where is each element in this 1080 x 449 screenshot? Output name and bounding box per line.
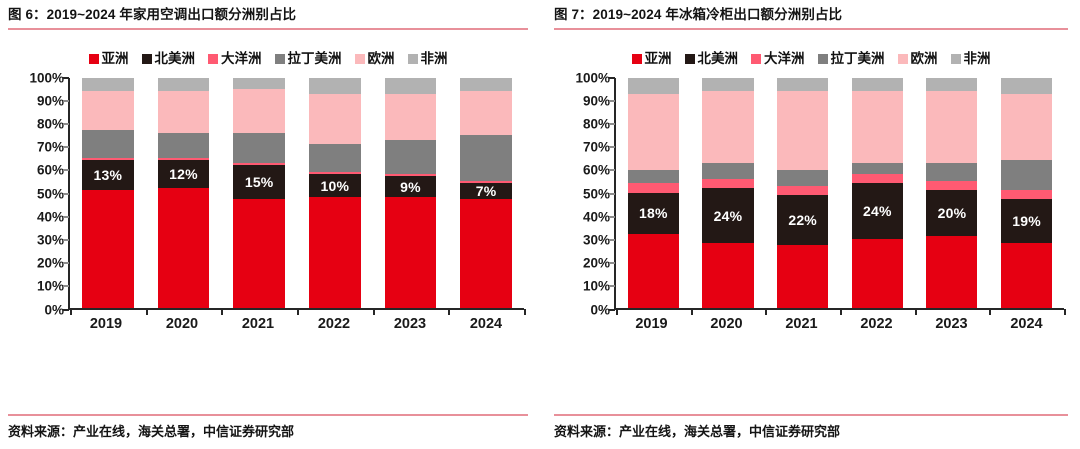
y-axis-tick-label: 40% bbox=[37, 209, 64, 224]
bar-segment-value-label: 7% bbox=[460, 183, 512, 199]
x-axis-tick-label: 2021 bbox=[776, 316, 827, 332]
bar-segment-北美洲[interactable]: 20% bbox=[926, 190, 977, 236]
bar-segment-欧洲[interactable] bbox=[628, 94, 679, 170]
x-axis-tick-mark bbox=[524, 309, 526, 315]
x-axis-tick-label: 2023 bbox=[384, 316, 436, 332]
bar-segment-北美洲[interactable]: 24% bbox=[852, 183, 903, 238]
x-axis-tick-label: 2022 bbox=[308, 316, 360, 332]
bar-segment-亚洲[interactable] bbox=[777, 245, 828, 307]
y-axis-tick-label: 50% bbox=[583, 186, 610, 201]
bar-segment-非洲[interactable] bbox=[777, 78, 828, 92]
legend-item-label: 拉丁美洲 bbox=[288, 52, 342, 66]
bar-segment-北美洲[interactable]: 9% bbox=[385, 176, 437, 197]
bar-segment-欧洲[interactable] bbox=[309, 94, 361, 145]
bar-segment-value-label: 10% bbox=[309, 178, 361, 194]
legend-item-label: 欧洲 bbox=[911, 52, 938, 66]
x-axis-tick-mark bbox=[840, 309, 842, 315]
footer-divider bbox=[8, 414, 528, 416]
bar-segment-北美洲[interactable]: 15% bbox=[233, 165, 285, 200]
figure-7-chart: 0%10%20%30%40%50%60%70%80%90%100% 18%24%… bbox=[554, 78, 1068, 340]
x-axis-tick-mark bbox=[448, 309, 450, 315]
bar-segment-拉丁美洲[interactable] bbox=[158, 133, 210, 158]
figure-7-legend: 亚洲北美洲大洋洲拉丁美洲欧洲非洲 bbox=[554, 52, 1068, 66]
source-text: 资料来源：产业在线，海关总署，中信证券研究部 bbox=[554, 423, 1068, 441]
bar-column[interactable]: 24% bbox=[702, 78, 753, 308]
legend-item-大洋洲[interactable]: 大洋洲 bbox=[751, 52, 805, 66]
x-axis-tick-label: 2021 bbox=[232, 316, 284, 332]
y-axis-tick-label: 10% bbox=[37, 279, 64, 294]
bar-segment-拉丁美洲[interactable] bbox=[852, 163, 903, 175]
page-title: 图 6：2019~2024 年家用空调出口额分洲别占比 bbox=[8, 6, 528, 24]
y-axis-tick-label: 60% bbox=[37, 163, 64, 178]
bar-segment-北美洲[interactable]: 24% bbox=[702, 188, 753, 243]
y-axis-tick-label: 30% bbox=[37, 232, 64, 247]
bar-segment-非洲[interactable] bbox=[309, 78, 361, 94]
bar-segment-value-label: 13% bbox=[82, 167, 134, 183]
figure-6-legend: 亚洲北美洲大洋洲拉丁美洲欧洲非洲 bbox=[8, 52, 528, 66]
bar-segment-亚洲[interactable] bbox=[702, 243, 753, 307]
legend-item-拉丁美洲[interactable]: 拉丁美洲 bbox=[818, 52, 885, 66]
bar-segment-拉丁美洲[interactable] bbox=[777, 170, 828, 186]
legend-swatch-icon bbox=[408, 54, 418, 64]
bar-segment-非洲[interactable] bbox=[460, 78, 512, 92]
bar-segment-欧洲[interactable] bbox=[777, 91, 828, 169]
y-axis-tick-label: 60% bbox=[583, 163, 610, 178]
figure-7-panel: 图 7：2019~2024 年冰箱冷柜出口额分洲别占比 亚洲北美洲大洋洲拉丁美洲… bbox=[540, 0, 1080, 449]
y-axis-tick-mark bbox=[63, 169, 69, 171]
bar-segment-大洋洲[interactable] bbox=[82, 158, 134, 160]
y-axis-tick-mark bbox=[63, 285, 69, 287]
y-axis-tick-mark bbox=[63, 146, 69, 148]
bar-segment-拉丁美洲[interactable] bbox=[385, 140, 437, 175]
bar-segment-亚洲[interactable] bbox=[460, 199, 512, 307]
legend-item-亚洲[interactable]: 亚洲 bbox=[632, 52, 672, 66]
figure-6-title-block: 图 6：2019~2024 年家用空调出口额分洲别占比 bbox=[8, 0, 528, 30]
legend-item-label: 亚洲 bbox=[645, 52, 672, 66]
legend-item-亚洲[interactable]: 亚洲 bbox=[89, 52, 129, 66]
bar-segment-亚洲[interactable] bbox=[309, 197, 361, 307]
y-axis-tick-mark bbox=[609, 239, 615, 241]
bar-segment-亚洲[interactable] bbox=[1001, 243, 1052, 307]
figure-6-chart: 0%10%20%30%40%50%60%70%80%90%100% 13%12%… bbox=[8, 78, 528, 340]
bar-segment-亚洲[interactable] bbox=[233, 199, 285, 307]
y-axis-tick-mark bbox=[63, 123, 69, 125]
bar-segment-非洲[interactable] bbox=[1001, 78, 1052, 94]
bar-column[interactable]: 7% bbox=[460, 78, 512, 308]
bar-segment-大洋洲[interactable] bbox=[777, 186, 828, 195]
bar-segment-大洋洲[interactable] bbox=[385, 174, 437, 176]
bar-column[interactable]: 13% bbox=[82, 78, 134, 308]
source-text: 资料来源：产业在线，海关总署，中信证券研究部 bbox=[8, 423, 528, 441]
legend-item-label: 北美洲 bbox=[698, 52, 739, 66]
bar-segment-value-label: 22% bbox=[777, 212, 828, 228]
bar-segment-value-label: 19% bbox=[1001, 213, 1052, 229]
y-axis-tick-label: 50% bbox=[37, 186, 64, 201]
bar-segment-欧洲[interactable] bbox=[1001, 94, 1052, 161]
y-axis-tick-label: 80% bbox=[37, 116, 64, 131]
x-axis-tick-mark bbox=[915, 309, 917, 315]
bar-segment-拉丁美洲[interactable] bbox=[82, 130, 134, 158]
legend-item-北美洲[interactable]: 北美洲 bbox=[685, 52, 739, 66]
y-axis-tick-mark bbox=[63, 262, 69, 264]
bar-segment-非洲[interactable] bbox=[233, 78, 285, 90]
legend-item-欧洲[interactable]: 欧洲 bbox=[898, 52, 938, 66]
bar-segment-拉丁美洲[interactable] bbox=[309, 144, 361, 172]
bar-segment-value-label: 24% bbox=[852, 203, 903, 219]
y-axis-tick-mark bbox=[63, 77, 69, 79]
legend-item-北美洲[interactable]: 北美洲 bbox=[142, 52, 196, 66]
legend-item-欧洲[interactable]: 欧洲 bbox=[355, 52, 395, 66]
bar-segment-亚洲[interactable] bbox=[158, 188, 210, 308]
bar-segment-北美洲[interactable]: 10% bbox=[309, 174, 361, 197]
y-axis-tick-label: 20% bbox=[37, 256, 64, 271]
bar-segment-非洲[interactable] bbox=[702, 78, 753, 92]
legend-swatch-icon bbox=[951, 54, 961, 64]
y-axis-tick-label: 0% bbox=[44, 302, 64, 317]
bar-segment-拉丁美洲[interactable] bbox=[460, 135, 512, 181]
legend-swatch-icon bbox=[818, 54, 828, 64]
y-axis-tick-mark bbox=[609, 193, 615, 195]
bar-segment-亚洲[interactable] bbox=[82, 190, 134, 307]
bar-segment-大洋洲[interactable] bbox=[852, 174, 903, 183]
bar-segment-拉丁美洲[interactable] bbox=[233, 133, 285, 163]
legend-item-label: 非洲 bbox=[421, 52, 448, 66]
bar-column[interactable]: 18% bbox=[628, 78, 679, 308]
x-axis-tick-mark bbox=[146, 309, 148, 315]
bar-segment-非洲[interactable] bbox=[158, 78, 210, 92]
x-axis-tick-label: 2019 bbox=[80, 316, 132, 332]
bar-segment-拉丁美洲[interactable] bbox=[702, 163, 753, 179]
legend-item-label: 欧洲 bbox=[368, 52, 395, 66]
footer-divider bbox=[554, 414, 1068, 416]
legend-item-label: 大洋洲 bbox=[764, 52, 805, 66]
bar-segment-欧洲[interactable] bbox=[385, 94, 437, 140]
bar-column[interactable]: 22% bbox=[777, 78, 828, 308]
x-axis-tick-mark bbox=[70, 309, 72, 315]
bar-segment-欧洲[interactable] bbox=[926, 91, 977, 162]
legend-swatch-icon bbox=[685, 54, 695, 64]
bar-column[interactable]: 19% bbox=[1001, 78, 1052, 308]
y-axis-tick-label: 100% bbox=[29, 70, 64, 85]
bar-segment-亚洲[interactable] bbox=[926, 236, 977, 307]
y-axis-tick-mark bbox=[63, 100, 69, 102]
y-axis-tick-mark bbox=[609, 146, 615, 148]
bar-segment-欧洲[interactable] bbox=[460, 91, 512, 135]
bar-segment-拉丁美洲[interactable] bbox=[926, 163, 977, 181]
legend-item-拉丁美洲[interactable]: 拉丁美洲 bbox=[275, 52, 342, 66]
bar-segment-北美洲[interactable]: 12% bbox=[158, 160, 210, 188]
bar-segment-拉丁美洲[interactable] bbox=[1001, 160, 1052, 190]
bar-segment-亚洲[interactable] bbox=[852, 239, 903, 308]
x-axis-tick-label: 2020 bbox=[701, 316, 752, 332]
x-axis-tick-mark bbox=[373, 309, 375, 315]
y-axis-tick-mark bbox=[609, 169, 615, 171]
bar-segment-大洋洲[interactable] bbox=[926, 181, 977, 190]
y-axis-tick-mark bbox=[63, 309, 69, 311]
legend-item-label: 非洲 bbox=[964, 52, 991, 66]
x-axis-tick-mark bbox=[765, 309, 767, 315]
x-axis-tick-label: 2019 bbox=[626, 316, 677, 332]
figure-7-title-block: 图 7：2019~2024 年冰箱冷柜出口额分洲别占比 bbox=[554, 0, 1068, 30]
y-axis-tick-label: 70% bbox=[583, 140, 610, 155]
bar-segment-欧洲[interactable] bbox=[852, 91, 903, 162]
bar-segment-非洲[interactable] bbox=[628, 78, 679, 94]
legend-swatch-icon bbox=[275, 54, 285, 64]
bar-segment-value-label: 20% bbox=[926, 205, 977, 221]
x-axis-tick-label: 2024 bbox=[460, 316, 512, 332]
figure-7-plot-area: 18%24%22%24%20%19% bbox=[614, 78, 1064, 310]
y-axis-tick-label: 70% bbox=[37, 140, 64, 155]
bar-segment-北美洲[interactable]: 7% bbox=[460, 183, 512, 199]
figures-page: 图 6：2019~2024 年家用空调出口额分洲别占比 亚洲北美洲大洋洲拉丁美洲… bbox=[0, 0, 1080, 449]
y-axis-tick-label: 10% bbox=[583, 279, 610, 294]
legend-swatch-icon bbox=[355, 54, 365, 64]
bar-segment-大洋洲[interactable] bbox=[158, 158, 210, 160]
bar-segment-value-label: 12% bbox=[158, 166, 210, 182]
bar-segment-北美洲[interactable]: 22% bbox=[777, 195, 828, 246]
legend-swatch-icon bbox=[898, 54, 908, 64]
legend-swatch-icon bbox=[142, 54, 152, 64]
legend-item-label: 亚洲 bbox=[102, 52, 129, 66]
y-axis-tick-mark bbox=[63, 193, 69, 195]
y-axis-tick-mark bbox=[63, 239, 69, 241]
bar-column[interactable]: 12% bbox=[158, 78, 210, 308]
y-axis-tick-mark bbox=[609, 77, 615, 79]
bar-segment-非洲[interactable] bbox=[385, 78, 437, 94]
x-axis-tick-mark bbox=[616, 309, 618, 315]
y-axis-tick-mark bbox=[609, 262, 615, 264]
y-axis-tick-label: 0% bbox=[590, 302, 610, 317]
x-axis-tick-mark bbox=[221, 309, 223, 315]
x-axis-tick-label: 2020 bbox=[156, 316, 208, 332]
figure-7-bars: 18%24%22%24%20%19% bbox=[616, 78, 1064, 308]
x-axis-tick-label: 2023 bbox=[926, 316, 977, 332]
page-title: 图 7：2019~2024 年冰箱冷柜出口额分洲别占比 bbox=[554, 6, 1068, 24]
y-axis-tick-label: 90% bbox=[583, 93, 610, 108]
bar-column[interactable]: 15% bbox=[233, 78, 285, 308]
bar-segment-北美洲[interactable]: 13% bbox=[82, 160, 134, 190]
y-axis-tick-mark bbox=[609, 100, 615, 102]
bar-segment-北美洲[interactable]: 19% bbox=[1001, 199, 1052, 243]
y-axis-tick-label: 20% bbox=[583, 256, 610, 271]
figure-7-x-axis-labels: 201920202021202220232024 bbox=[614, 316, 1064, 332]
bar-column[interactable]: 20% bbox=[926, 78, 977, 308]
legend-swatch-icon bbox=[89, 54, 99, 64]
bar-segment-大洋洲[interactable] bbox=[309, 172, 361, 174]
x-axis-tick-mark bbox=[1064, 309, 1066, 315]
legend-item-label: 大洋洲 bbox=[221, 52, 262, 66]
x-axis-tick-mark bbox=[989, 309, 991, 315]
y-axis-tick-mark bbox=[609, 285, 615, 287]
figure-6-plot-area: 13%12%15%10%9%7% bbox=[68, 78, 524, 310]
x-axis-tick-label: 2024 bbox=[1001, 316, 1052, 332]
bar-segment-欧洲[interactable] bbox=[158, 91, 210, 132]
figure-6-y-axis-labels: 0%10%20%30%40%50%60%70%80%90%100% bbox=[8, 78, 64, 310]
x-axis-tick-label: 2022 bbox=[851, 316, 902, 332]
bar-segment-拉丁美洲[interactable] bbox=[628, 170, 679, 184]
legend-item-label: 拉丁美洲 bbox=[831, 52, 885, 66]
legend-item-非洲[interactable]: 非洲 bbox=[408, 52, 448, 66]
legend-swatch-icon bbox=[632, 54, 642, 64]
bar-segment-非洲[interactable] bbox=[926, 78, 977, 92]
bar-segment-北美洲[interactable]: 18% bbox=[628, 193, 679, 234]
y-axis-tick-mark bbox=[63, 216, 69, 218]
bar-segment-大洋洲[interactable] bbox=[460, 181, 512, 183]
bar-segment-value-label: 15% bbox=[233, 174, 285, 190]
bar-segment-value-label: 9% bbox=[385, 179, 437, 195]
legend-item-label: 北美洲 bbox=[155, 52, 196, 66]
title-divider bbox=[554, 28, 1068, 30]
figure-6-x-axis-labels: 201920202021202220232024 bbox=[68, 316, 524, 332]
bar-segment-亚洲[interactable] bbox=[628, 234, 679, 308]
y-axis-tick-label: 90% bbox=[37, 93, 64, 108]
bar-segment-欧洲[interactable] bbox=[702, 91, 753, 162]
y-axis-tick-label: 40% bbox=[583, 209, 610, 224]
figure-6-footer: 资料来源：产业在线，海关总署，中信证券研究部 bbox=[8, 414, 528, 441]
bar-segment-欧洲[interactable] bbox=[233, 89, 285, 133]
y-axis-tick-label: 100% bbox=[575, 70, 610, 85]
bar-segment-非洲[interactable] bbox=[82, 78, 134, 92]
legend-swatch-icon bbox=[208, 54, 218, 64]
y-axis-tick-mark bbox=[609, 309, 615, 311]
y-axis-tick-mark bbox=[609, 123, 615, 125]
x-axis-tick-mark bbox=[691, 309, 693, 315]
bar-column[interactable]: 9% bbox=[385, 78, 437, 308]
bar-segment-亚洲[interactable] bbox=[385, 197, 437, 307]
title-divider bbox=[8, 28, 528, 30]
figure-7-footer: 资料来源：产业在线，海关总署，中信证券研究部 bbox=[554, 414, 1068, 441]
legend-item-非洲[interactable]: 非洲 bbox=[951, 52, 991, 66]
bar-segment-大洋洲[interactable] bbox=[628, 183, 679, 192]
figure-6-bars: 13%12%15%10%9%7% bbox=[70, 78, 524, 308]
figure-6-panel: 图 6：2019~2024 年家用空调出口额分洲别占比 亚洲北美洲大洋洲拉丁美洲… bbox=[0, 0, 540, 449]
bar-segment-大洋洲[interactable] bbox=[233, 163, 285, 165]
bar-column[interactable]: 10% bbox=[309, 78, 361, 308]
bar-segment-非洲[interactable] bbox=[852, 78, 903, 92]
bar-segment-大洋洲[interactable] bbox=[1001, 190, 1052, 199]
legend-item-大洋洲[interactable]: 大洋洲 bbox=[208, 52, 262, 66]
y-axis-tick-label: 80% bbox=[583, 116, 610, 131]
legend-swatch-icon bbox=[751, 54, 761, 64]
figure-7-y-axis-labels: 0%10%20%30%40%50%60%70%80%90%100% bbox=[554, 78, 610, 310]
y-axis-tick-label: 30% bbox=[583, 232, 610, 247]
bar-segment-value-label: 18% bbox=[628, 205, 679, 221]
y-axis-tick-mark bbox=[609, 216, 615, 218]
bar-column[interactable]: 24% bbox=[852, 78, 903, 308]
x-axis-tick-mark bbox=[297, 309, 299, 315]
bar-segment-value-label: 24% bbox=[702, 208, 753, 224]
bar-segment-欧洲[interactable] bbox=[82, 91, 134, 130]
bar-segment-大洋洲[interactable] bbox=[702, 179, 753, 188]
